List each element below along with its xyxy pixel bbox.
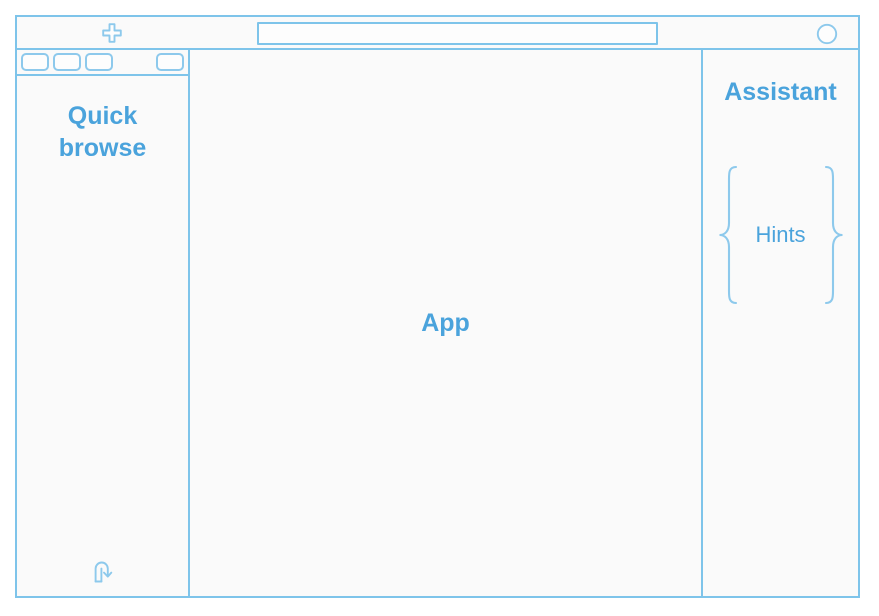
app-content-panel: App	[190, 50, 703, 596]
address-search-input[interactable]	[257, 22, 658, 45]
app-panel-title: App	[421, 309, 470, 338]
u-turn-arrow-button[interactable]	[88, 556, 118, 586]
hints-label: Hints	[755, 224, 805, 246]
sidebar-tab-strip	[17, 50, 188, 76]
quick-browse-sidebar: Quick browse	[17, 50, 190, 596]
add-tab-button[interactable]	[99, 20, 125, 46]
tab-chip-2[interactable]	[53, 53, 81, 71]
window-body: Quick browse App Assistant	[17, 50, 858, 596]
browser-window-frame: Quick browse App Assistant	[15, 15, 860, 598]
sidebar-title: Quick browse	[17, 100, 188, 164]
plus-icon	[100, 21, 124, 45]
right-curly-brace-icon	[823, 165, 845, 305]
assistant-panel-title: Assistant	[724, 78, 837, 107]
assistant-panel: Assistant Hints	[703, 50, 858, 596]
tab-chip-3[interactable]	[85, 53, 113, 71]
left-curly-brace-icon	[717, 165, 739, 305]
sidebar-content: Quick browse	[17, 76, 188, 596]
top-chrome-bar	[17, 17, 858, 50]
circle-avatar-icon	[816, 23, 838, 45]
hints-group: Hints	[717, 165, 845, 305]
tab-chip-1[interactable]	[21, 53, 49, 71]
avatar-button[interactable]	[816, 23, 838, 45]
tab-chip-4[interactable]	[156, 53, 184, 71]
u-turn-arrow-icon	[89, 557, 117, 585]
